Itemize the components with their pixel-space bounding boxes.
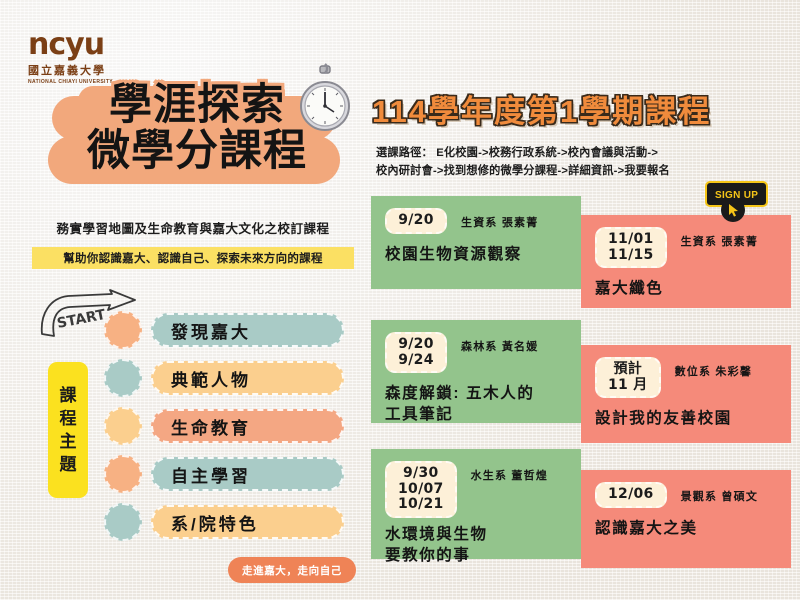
course-date-4-2: 10/21 [398,497,444,513]
topic-dot-2 [104,407,142,445]
topic-label-0: 發現嘉大 [171,318,251,343]
course-head-5: 12/06 景觀系 曾碩文 [595,482,777,508]
course-date-4-0: 9/30 [403,466,439,482]
course-teacher-5: 景觀系 曾碩文 [681,488,758,504]
tagline-text: 走進嘉大，走向自己 [242,565,342,577]
course-card-3[interactable]: 預計 11 月 數位系 朱彩馨 設計我的友善校園 [581,345,791,443]
topic-category-tab: 課 程 主 題 [48,362,88,498]
course-card-2[interactable]: 9/20 9/24 森林系 黃名媛 森度解鎖: 五木人的 工具筆記 [371,320,581,423]
course-teacher-3: 數位系 朱彩馨 [675,363,752,379]
course-date-1-1: 11/15 [608,248,654,264]
course-card-4[interactable]: 9/30 10/07 10/21 水生系 董哲煌 水環境與生物 要教你的事 [371,449,581,559]
highlight-banner: 幫助你認識嘉大、認識自己、探索未來方向的課程 [32,247,354,269]
topic-pill-2[interactable]: 生命教育 [151,409,344,443]
course-date-2-0: 9/20 [398,337,434,353]
university-logo: ncyu 國立嘉義大學 NATIONAL CHIAYI UNIVERSITY [28,30,113,85]
topic-pill-3[interactable]: 自主學習 [151,457,344,491]
logo-name-chinese: 國立嘉義大學 [28,62,113,78]
course-title-0: 校園生物資源觀察 [385,245,567,266]
topic-tab-char-2: 主 [60,433,77,450]
course-card-1[interactable]: 11/01 11/15 生資系 張素菁 嘉大纖色 [581,215,791,308]
svg-text:START: START [56,307,108,332]
course-title-1: 嘉大纖色 [595,279,777,300]
cursor-arrow-icon [721,198,745,222]
enrollment-path-line1: 選課路徑： E化校園->校務行政系統->校內會議與活動-> [376,144,776,162]
course-title-4: 水環境與生物 要教你的事 [385,525,567,567]
topic-label-1: 典範人物 [171,366,251,391]
topic-pill-4[interactable]: 系/院特色 [151,505,344,539]
course-title-5: 認識嘉大之美 [595,519,777,540]
course-head-4: 9/30 10/07 10/21 水生系 董哲煌 [385,461,567,518]
topic-dot-3 [104,455,142,493]
topic-pill-1[interactable]: 典範人物 [151,361,344,395]
logo-wordmark: ncyu [28,30,113,60]
topic-label-3: 自主學習 [171,462,251,487]
topic-item-4[interactable]: 系/院特色 [104,502,344,542]
course-head-1: 11/01 11/15 生資系 張素菁 [595,227,777,268]
course-date-box-5: 12/06 [595,482,667,508]
enrollment-path: 選課路徑： E化校園->校務行政系統->校內會議與活動-> 校內研討會->找到想… [376,144,776,181]
topic-dot-1 [104,359,142,397]
highlight-text: 幫助你認識嘉大、認識自己、探索未來方向的課程 [63,250,323,266]
course-date-4-1: 10/07 [398,482,444,498]
course-date-1-0: 11/01 [608,232,654,248]
signup-badge[interactable]: SIGN UP [705,181,768,207]
course-date-2-1: 9/24 [398,353,434,369]
course-date-box-2: 9/20 9/24 [385,332,447,373]
course-date-0-0: 9/20 [398,213,434,229]
topic-label-2: 生命教育 [171,414,251,439]
topic-dot-4 [104,503,142,541]
course-teacher-4: 水生系 董哲煌 [471,467,548,483]
topic-item-1[interactable]: 典範人物 [104,358,344,398]
course-date-3-0: 預計 [613,362,642,378]
stopwatch-icon [296,62,354,145]
topic-tab-char-1: 程 [60,410,77,427]
course-date-box-0: 9/20 [385,208,447,234]
topic-pill-0[interactable]: 發現嘉大 [151,313,344,347]
course-date-5-0: 12/06 [608,487,654,503]
semester-title: 114學年度第1學期課程 [372,86,711,131]
topic-tab-char-0: 課 [60,387,77,404]
start-arrow-icon: START [36,288,142,355]
topic-label-4: 系/院特色 [171,510,259,535]
course-head-2: 9/20 9/24 森林系 黃名媛 [385,332,567,373]
course-teacher-0: 生資系 張素菁 [461,214,538,230]
course-date-3-1: 11 月 [608,378,648,394]
topic-item-2[interactable]: 生命教育 [104,406,344,446]
course-date-box-4: 9/30 10/07 10/21 [385,461,457,518]
course-teacher-2: 森林系 黃名媛 [461,338,538,354]
course-head-3: 預計 11 月 數位系 朱彩馨 [595,357,777,398]
enrollment-path-line2: 校內研討會->找到想修的微學分課程->詳細資訊->我要報名 [376,162,776,180]
course-date-box-1: 11/01 11/15 [595,227,667,268]
course-teacher-1: 生資系 張素菁 [681,233,758,249]
course-date-box-3: 預計 11 月 [595,357,661,398]
subtitle-text: 務實學習地圖及生命教育與嘉大文化之校訂課程 [28,218,358,237]
tagline-badge: 走進嘉大，走向自己 [228,557,356,583]
course-head-0: 9/20 生資系 張素菁 [385,208,567,234]
course-title-2: 森度解鎖: 五木人的 工具筆記 [385,384,567,426]
topic-tab-char-3: 題 [60,456,77,473]
course-title-3: 設計我的友善校園 [595,409,777,430]
course-card-5[interactable]: 12/06 景觀系 曾碩文 認識嘉大之美 [581,470,791,568]
topic-item-3[interactable]: 自主學習 [104,454,344,494]
course-card-0[interactable]: 9/20 生資系 張素菁 校園生物資源觀察 [371,196,581,289]
